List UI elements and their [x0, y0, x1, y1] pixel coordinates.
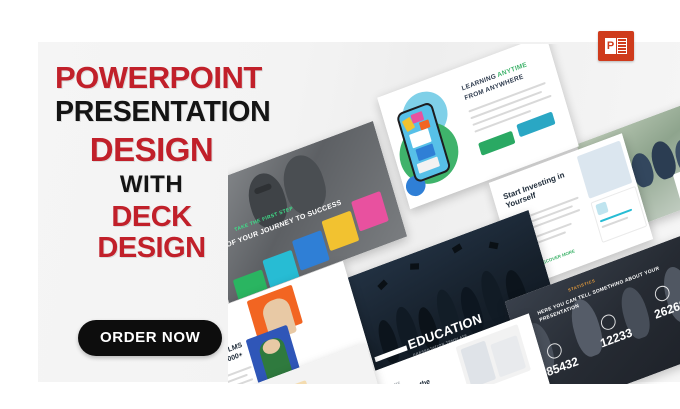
slide-secondary-button	[516, 111, 555, 137]
powerpoint-lines-icon	[617, 38, 627, 54]
headline-line-6: DESIGN	[55, 234, 270, 263]
headline-line-5: DECK	[55, 203, 270, 232]
headline-line-2: PRESENTATION	[55, 98, 270, 127]
headline-line-3: DESIGN	[55, 133, 270, 166]
powerpoint-letter: P	[605, 38, 616, 54]
headline-block: POWERPOINT PRESENTATION DESIGN WITH DECK…	[55, 62, 270, 263]
slide-eyebrow: WELCOME	[378, 381, 401, 384]
order-now-button[interactable]: ORDER NOW	[78, 320, 222, 356]
headline-line-4: WITH	[55, 173, 270, 197]
slide-primary-button	[478, 131, 515, 156]
feature-card	[292, 230, 330, 271]
slide-title: Welcome to the Online Learning Center	[381, 375, 447, 384]
slide-title: Start Investing in Yourself	[502, 168, 575, 211]
slide-collage: LEARNING ANYTIME FROM ANYWHERE TAKE THE …	[228, 44, 680, 384]
gig-thumbnail: LEARNING ANYTIME FROM ANYWHERE TAKE THE …	[0, 0, 680, 409]
headline-line-1: POWERPOINT	[55, 62, 270, 93]
powerpoint-icon: P	[598, 31, 634, 61]
